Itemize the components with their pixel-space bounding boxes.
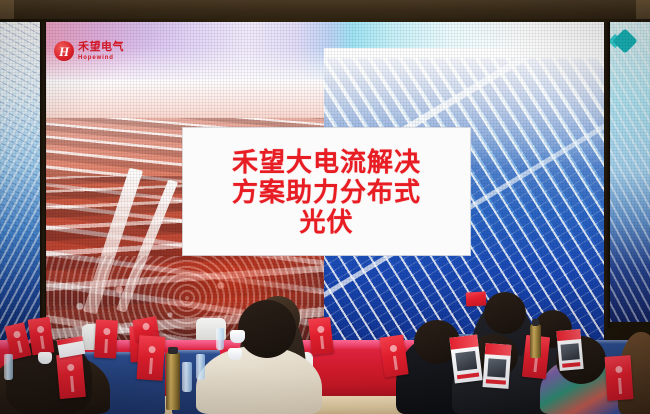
side-screen-left (0, 22, 40, 340)
placard-11 (604, 355, 633, 401)
ceiling-band (0, 0, 650, 22)
title-line-1: 禾望大电流解决 (232, 147, 421, 177)
logo-name-cn: 禾望电气 (78, 42, 124, 53)
thermos-2 (530, 324, 541, 358)
tea-cup-2 (38, 352, 52, 364)
head-far-2 (484, 292, 526, 334)
water-bottle-2 (196, 354, 205, 380)
title-line-3: 光伏 (299, 207, 353, 237)
side-screen-right-image (610, 22, 650, 322)
presentation-title-card: 禾望大电流解决 方案助力分布式 光伏 (183, 128, 470, 255)
tea-cup-3 (228, 348, 242, 360)
brochure-2 (482, 343, 511, 389)
side-screen-left-image (0, 22, 40, 340)
side-screen-right (610, 22, 650, 322)
placard-12 (466, 291, 487, 306)
placard-8 (308, 317, 334, 355)
logo-name-en: Hopewind (78, 55, 124, 61)
logo-mark-icon: H (54, 41, 74, 61)
head-near-2 (238, 300, 296, 358)
ceiling-notch-right (636, 0, 650, 22)
logo-text: 禾望电气 Hopewind (78, 42, 124, 61)
logo-mark-letter: H (59, 45, 69, 58)
title-line-2: 方案助力分布式 (232, 177, 421, 207)
tea-cup-1 (230, 330, 245, 343)
thermos-1 (166, 352, 180, 410)
brochure-3 (556, 329, 583, 371)
water-bottle-1 (182, 362, 192, 392)
placard-4 (94, 319, 118, 358)
water-bottle-4 (216, 328, 224, 350)
conference-photo: H 禾望电气 Hopewind 禾望大电流解决 方案助力分布式 光伏 (0, 0, 650, 414)
placard-3 (56, 353, 86, 399)
placard-7 (136, 335, 165, 381)
hopewind-logo: H 禾望电气 Hopewind (54, 41, 124, 61)
brochure-1 (449, 334, 482, 383)
water-bottle-3 (4, 354, 13, 380)
ceiling-notch-left (0, 0, 14, 22)
